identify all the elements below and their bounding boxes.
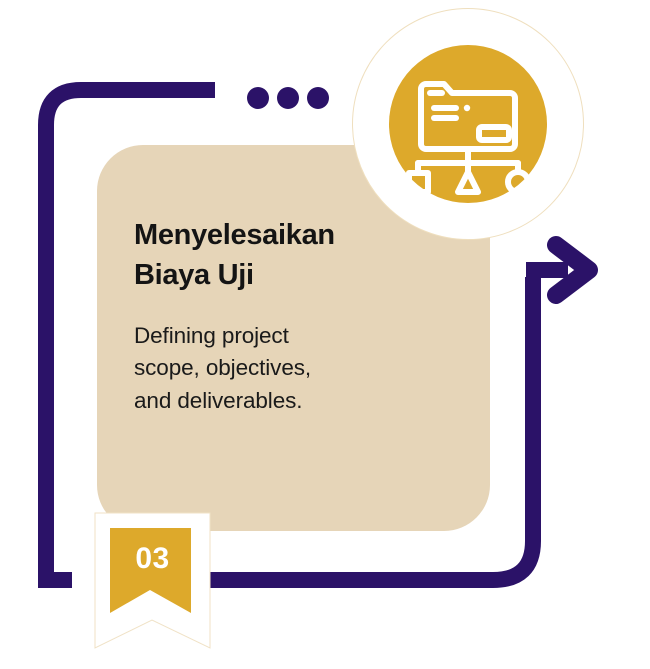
step-number-ribbon: 03 (90, 508, 215, 663)
card-text-block: Menyelesaikan Biaya Uji Defining project… (134, 215, 424, 417)
connector-dot-2 (277, 87, 299, 109)
folder-button-icon (479, 127, 509, 140)
folder-hierarchy-icon (389, 45, 547, 203)
square-node-icon (409, 173, 428, 192)
folder-dot-icon (464, 105, 470, 111)
connector-dot-3 (307, 87, 329, 109)
icon-badge (352, 8, 584, 240)
connector-dot-1 (247, 87, 269, 109)
card-description: Defining project scope, objectives, and … (134, 320, 424, 417)
infographic-root: Menyelesaikan Biaya Uji Defining project… (0, 0, 650, 669)
step-number-label: 03 (90, 542, 215, 576)
ribbon-shapes (90, 508, 215, 663)
circle-node-icon (508, 172, 528, 192)
triangle-node-icon (458, 172, 478, 192)
